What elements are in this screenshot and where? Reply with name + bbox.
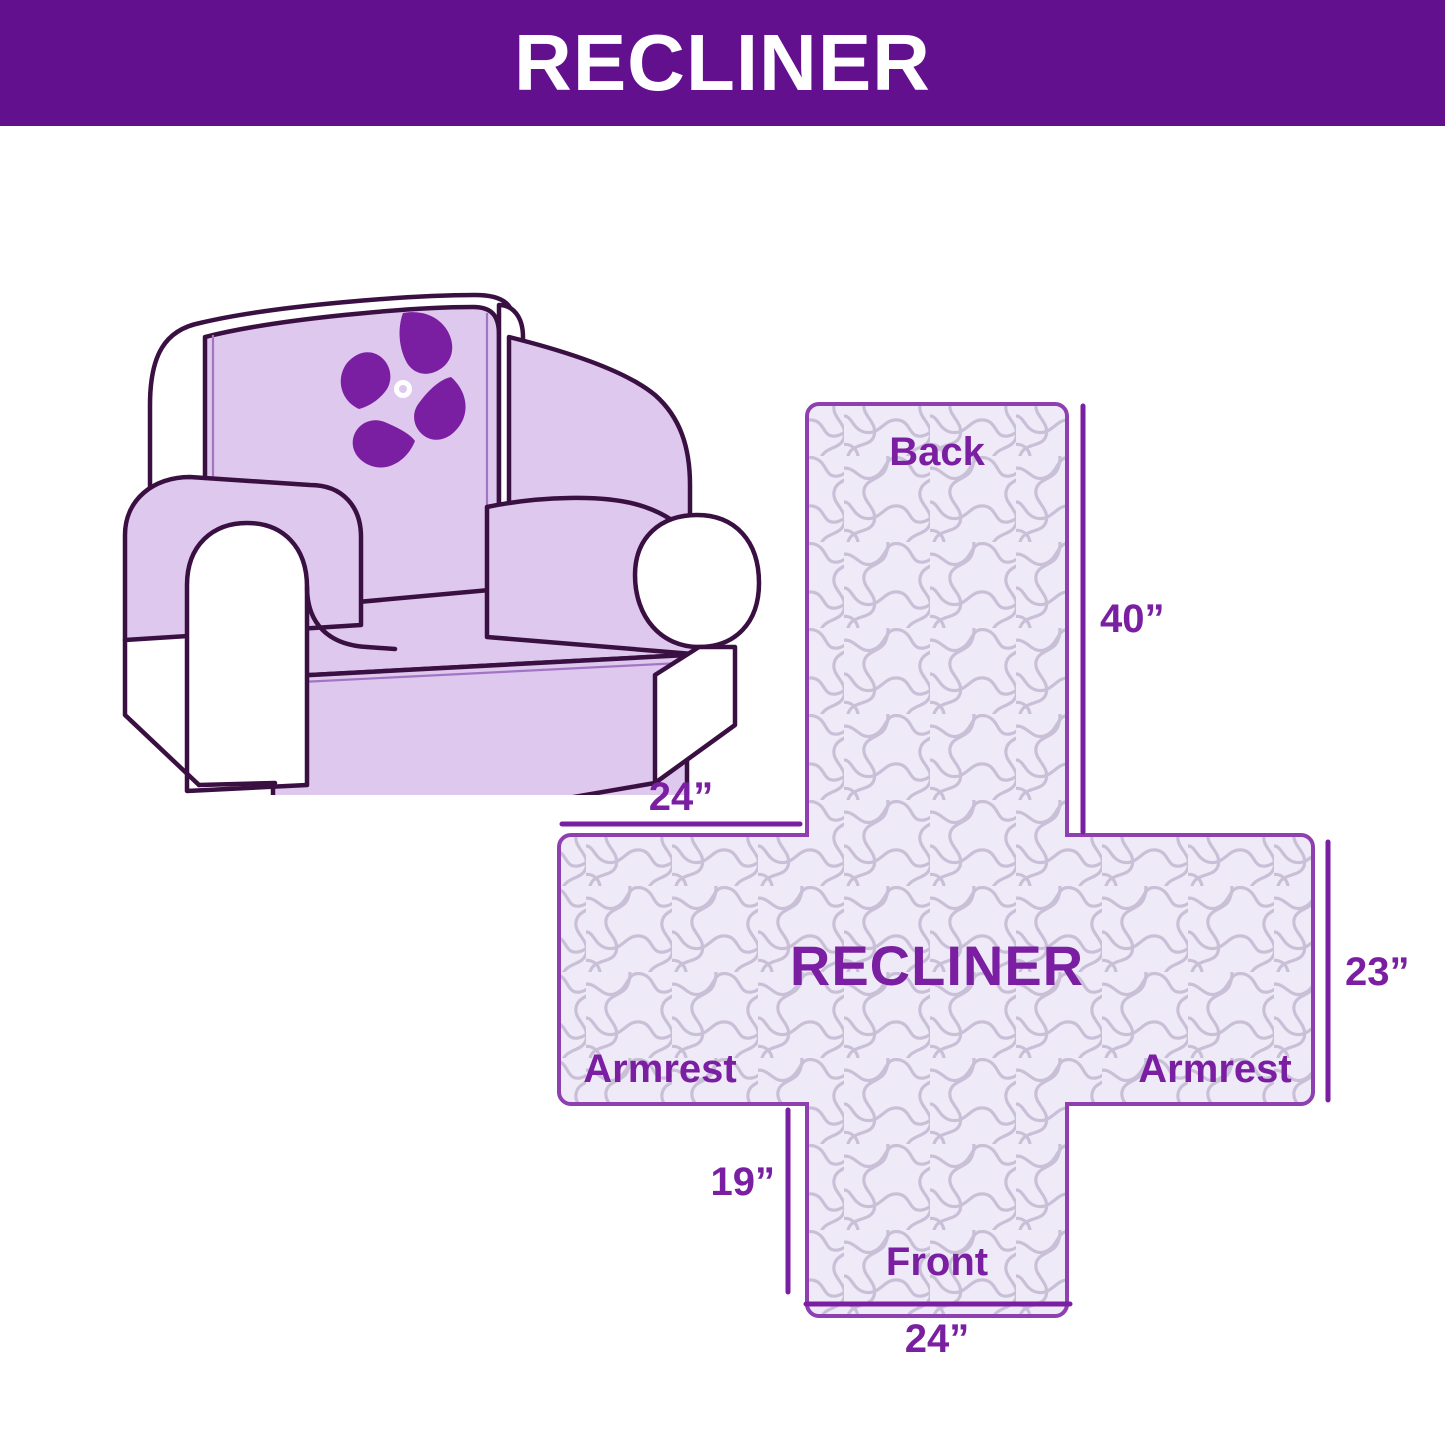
- dimension-armrest-height: 23”: [1328, 842, 1410, 1100]
- dimension-armrest-height-value: 23”: [1345, 950, 1410, 994]
- dimension-back-height-value: 40”: [1100, 597, 1165, 641]
- panel-label-back: Back: [889, 430, 985, 474]
- slipcover-pattern-diagram: .pborder { fill:url(#quilt); stroke:#8E3…: [500, 370, 1445, 1430]
- panel-back: [559, 404, 1313, 1316]
- panel-label-armrest-left: Armrest: [583, 1047, 736, 1091]
- dimension-back-height: 40”: [1083, 406, 1165, 832]
- dimension-front-height: 19”: [711, 1110, 789, 1292]
- panel-label-front: Front: [886, 1240, 988, 1284]
- dimension-back-width-value: 24”: [649, 775, 714, 819]
- pattern-center-label: RECLINER: [790, 934, 1084, 997]
- dimension-front-height-value: 19”: [711, 1160, 776, 1204]
- dimension-back-width: 24”: [562, 775, 800, 824]
- header-banner: RECLINER: [0, 0, 1445, 126]
- recliner-slipcover-size-diagram: RECLINER .co { fill:none; stroke:#3A1042…: [0, 0, 1445, 1445]
- panel-label-armrest-right: Armrest: [1138, 1047, 1291, 1091]
- dimension-front-width-value: 24”: [905, 1317, 970, 1361]
- page-title: RECLINER: [514, 23, 931, 103]
